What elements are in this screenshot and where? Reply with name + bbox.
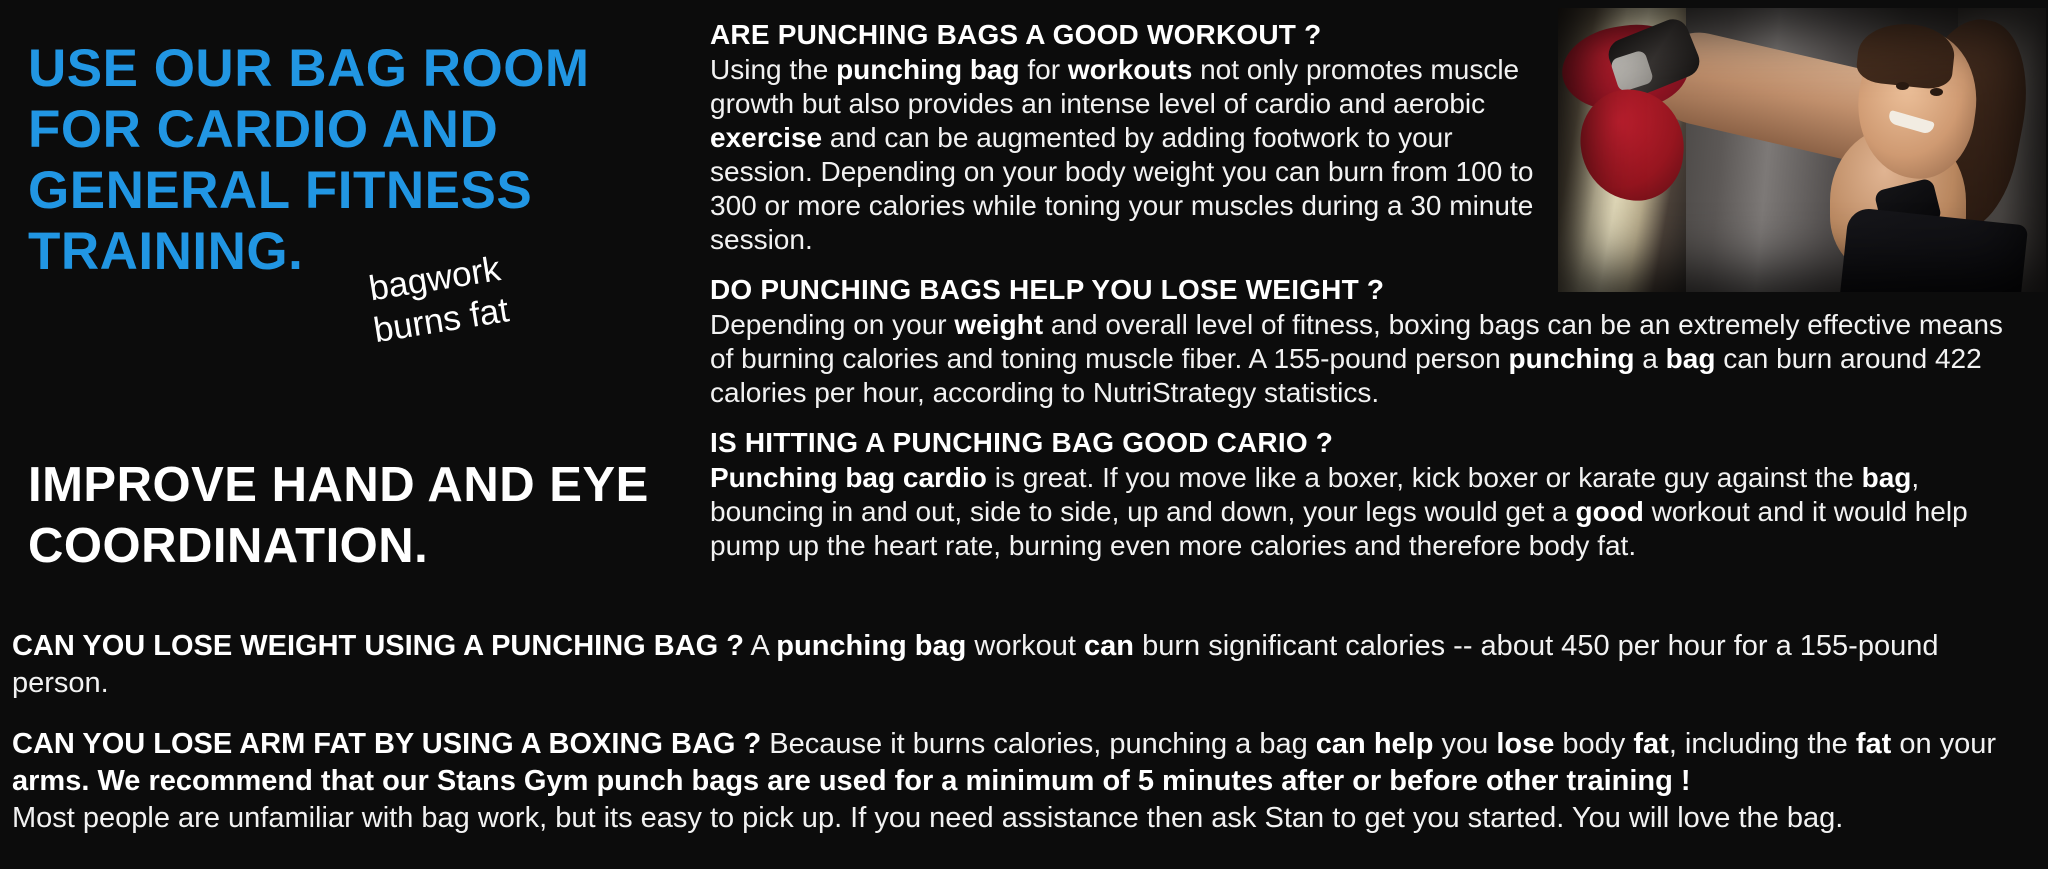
qa-heading: ARE PUNCHING BAGS A GOOD WORKOUT ?: [710, 18, 1555, 51]
boxing-photo: [1558, 8, 2046, 292]
bottom-section: CAN YOU LOSE WEIGHT USING A PUNCHING BAG…: [12, 628, 2036, 837]
qa-body: Punching bag cardio is great. If you mov…: [710, 461, 2030, 563]
qa-body: Depending on your weight and overall lev…: [710, 308, 2030, 410]
qa-block: ARE PUNCHING BAGS A GOOD WORKOUT ?Using …: [710, 18, 1555, 257]
photo-eye-left: [1896, 82, 1909, 90]
photo-eye-right: [1930, 88, 1943, 96]
qa-block: IS HITTING A PUNCHING BAG GOOD CARIO ?Pu…: [710, 426, 2030, 563]
poster-canvas: USE OUR BAG ROOM FOR CARDIO AND GENERAL …: [0, 0, 2048, 869]
qa-body: Using the punching bag for workouts not …: [710, 53, 1555, 257]
left-column: USE OUR BAG ROOM FOR CARDIO AND GENERAL …: [0, 0, 700, 620]
headline-white: IMPROVE HAND AND EYE COORDINATION.: [28, 455, 688, 577]
headline-blue: USE OUR BAG ROOM FOR CARDIO AND GENERAL …: [28, 38, 688, 282]
qa-block: DO PUNCHING BAGS HELP YOU LOSE WEIGHT ?D…: [710, 273, 2030, 410]
bottom-question: CAN YOU LOSE ARM FAT BY USING A BOXING B…: [12, 728, 761, 760]
bottom-paragraph: CAN YOU LOSE ARM FAT BY USING A BOXING B…: [12, 726, 2036, 837]
qa-heading: IS HITTING A PUNCHING BAG GOOD CARIO ?: [710, 426, 2030, 459]
bottom-paragraph: CAN YOU LOSE WEIGHT USING A PUNCHING BAG…: [12, 628, 2036, 702]
bottom-question: CAN YOU LOSE WEIGHT USING A PUNCHING BAG…: [12, 630, 744, 662]
